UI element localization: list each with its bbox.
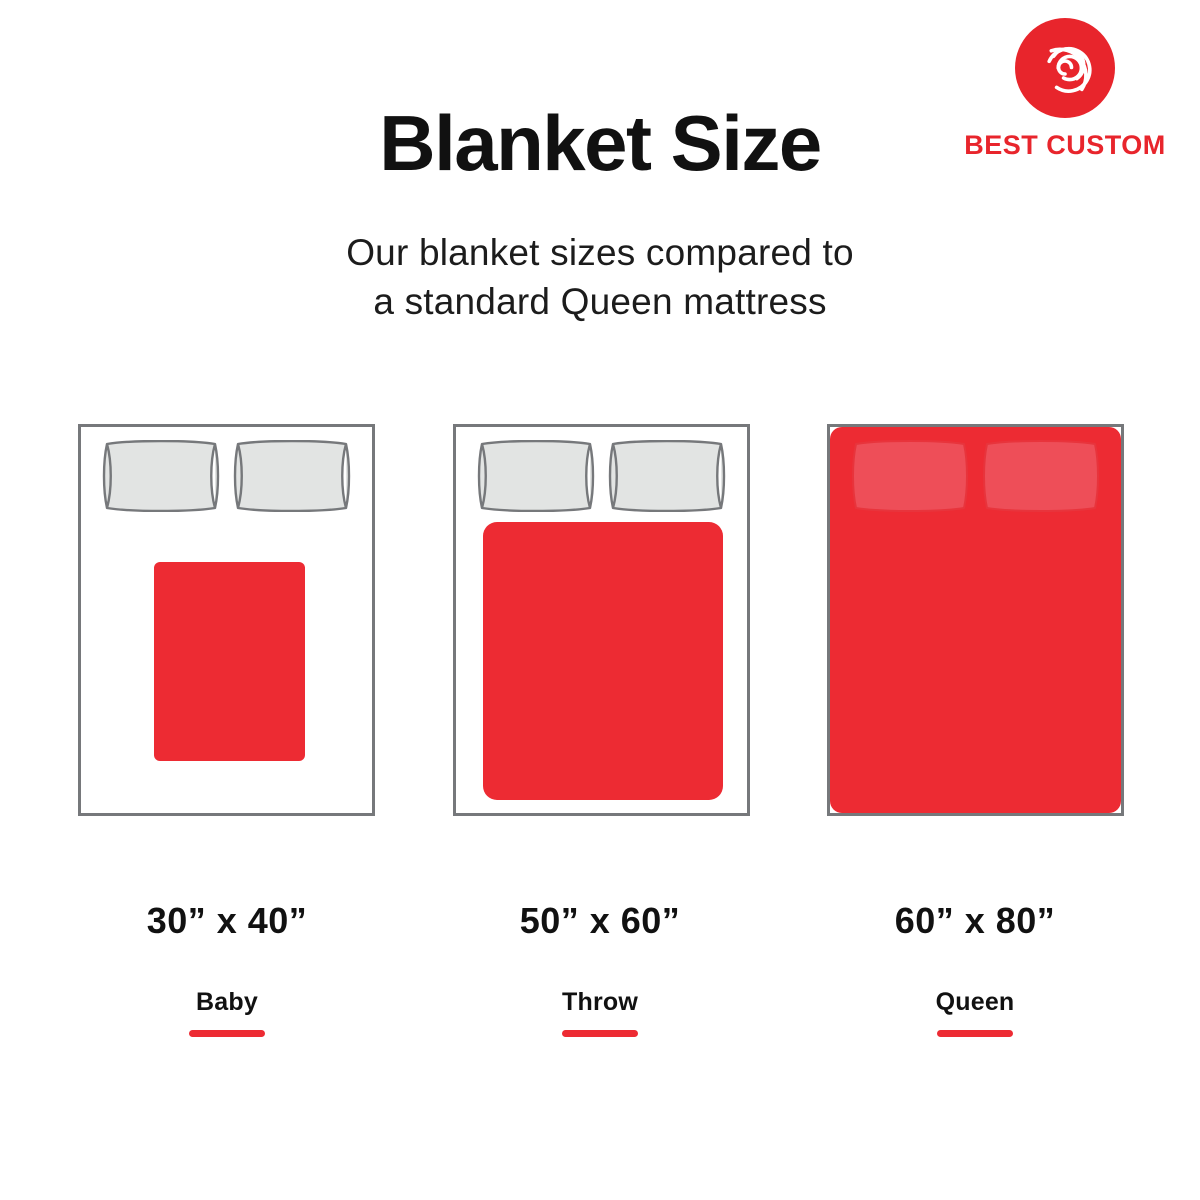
size-label-queen: 60” x 80” Queen <box>775 900 1175 1037</box>
pillow-left <box>477 440 595 512</box>
accent-underline <box>937 1030 1013 1037</box>
page-title: Blanket Size <box>0 104 1200 182</box>
subtitle-line-1: Our blanket sizes compared to <box>0 228 1200 277</box>
dimensions-text: 60” x 80” <box>775 900 1175 942</box>
page-subtitle: Our blanket sizes compared to a standard… <box>0 228 1200 326</box>
accent-underline <box>562 1030 638 1037</box>
bed-figure-throw <box>453 424 750 816</box>
size-label-throw: 50” x 60” Throw <box>400 900 800 1037</box>
size-name-text: Baby <box>27 988 427 1017</box>
pillow-right <box>233 440 351 512</box>
blanket-throw <box>483 522 723 800</box>
bed-diagram-group <box>0 424 1200 816</box>
size-name-text: Throw <box>400 988 800 1017</box>
pillow-left-under-blanket <box>851 440 969 512</box>
infographic-canvas: BEST CUSTOM Blanket Size Our blanket siz… <box>0 0 1200 1200</box>
blanket-baby <box>154 562 305 761</box>
size-name-text: Queen <box>775 988 1175 1017</box>
logo-badge <box>1015 18 1115 118</box>
pillow-left <box>102 440 220 512</box>
size-label-group: 30” x 40” Baby 50” x 60” Throw 60” x 80”… <box>0 900 1200 1040</box>
dimensions-text: 30” x 40” <box>27 900 427 942</box>
size-label-baby: 30” x 40” Baby <box>27 900 427 1037</box>
bed-figure-queen <box>827 424 1124 816</box>
pillow-right-under-blanket <box>982 440 1100 512</box>
pillow-right <box>608 440 726 512</box>
subtitle-line-2: a standard Queen mattress <box>0 277 1200 326</box>
accent-underline <box>189 1030 265 1037</box>
bed-figure-baby <box>78 424 375 816</box>
blanket-queen <box>830 427 1121 813</box>
dimensions-text: 50” x 60” <box>400 900 800 942</box>
fingerprint-icon <box>1030 33 1100 103</box>
